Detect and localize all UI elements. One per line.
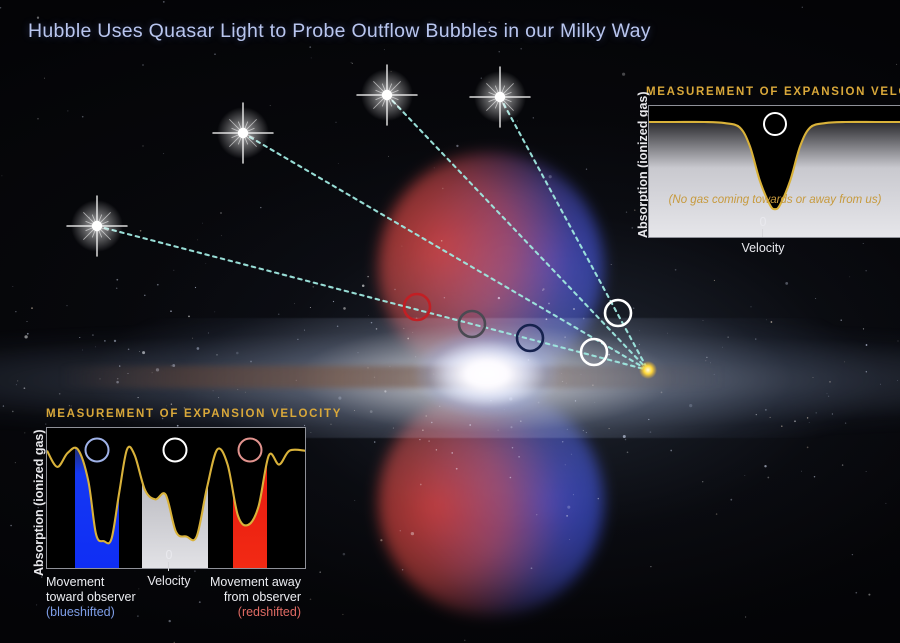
infographic-canvas: Hubble Uses Quasar Light to Probe Outflo…	[0, 0, 900, 643]
observer-convergence-point	[639, 361, 657, 379]
marker-ring-neutral	[164, 439, 187, 462]
x-axis-label-top-right: Velocity	[720, 241, 806, 255]
quasar-1	[67, 196, 127, 256]
x-axis-label-bottom-left: Velocity	[132, 574, 206, 588]
marker-ring-redshifted	[239, 439, 262, 462]
marker-outer-lower	[581, 339, 607, 365]
legend-blueshifted-line3: (blueshifted)	[46, 605, 136, 620]
panel-title-top-right: MEASUREMENT OF EXPANSION VELOCITY	[646, 86, 900, 98]
panel-expansion-velocity-top-right: MEASUREMENT OF EXPANSION VELOCITY Absorp…	[620, 86, 900, 272]
zero-tick-mark-top-right	[762, 229, 763, 237]
zero-tick-mark-bottom-left	[168, 562, 169, 571]
spectrum-chart-top-right	[649, 106, 900, 237]
quasar-4	[470, 67, 530, 127]
legend-blueshifted-line2: toward observer	[46, 590, 136, 605]
marker-blueshifted	[517, 325, 543, 351]
page-title: Hubble Uses Quasar Light to Probe Outflo…	[28, 20, 651, 43]
legend-redshifted: Movement away from observer (redshifted)	[210, 575, 301, 620]
quasar-2	[213, 103, 273, 163]
panel-expansion-velocity-bottom-left: MEASUREMENT OF EXPANSION VELOCITY Absorp…	[8, 408, 308, 636]
legend-redshifted-line2: from observer	[210, 590, 301, 605]
no-gas-note: (No gas coming towards or away from us)	[649, 194, 900, 206]
sightline-quasar-3	[387, 95, 648, 370]
zero-tick-bottom-left: 0	[162, 548, 176, 562]
panel-title-bottom-left: MEASUREMENT OF EXPANSION VELOCITY	[46, 408, 342, 420]
marker-ring-blueshifted	[86, 439, 109, 462]
sightline-quasar-2	[243, 133, 648, 370]
plot-area-bottom-left	[46, 427, 306, 569]
quasar-sightlines	[97, 95, 648, 370]
sample-marker-rings	[404, 294, 631, 365]
sightline-quasar-1	[97, 226, 648, 370]
quasar-3	[357, 65, 417, 125]
zero-tick-top-right: 0	[756, 215, 770, 229]
marker-outer-upper	[605, 300, 631, 326]
quasar-stars	[67, 65, 530, 256]
y-axis-label-bottom-left: Absorption (ionized gas)	[32, 429, 46, 576]
marker-ring-neutral-top-right	[764, 113, 786, 135]
legend-redshifted-line1: Movement away	[210, 575, 301, 590]
plot-area-top-right: (No gas coming towards or away from us)	[648, 105, 900, 238]
legend-blueshifted-line1: Movement	[46, 575, 136, 590]
spectrum-chart-bottom-left	[47, 428, 305, 568]
legend-blueshifted: Movement toward observer (blueshifted)	[46, 575, 136, 620]
legend-redshifted-line3: (redshifted)	[210, 605, 301, 620]
